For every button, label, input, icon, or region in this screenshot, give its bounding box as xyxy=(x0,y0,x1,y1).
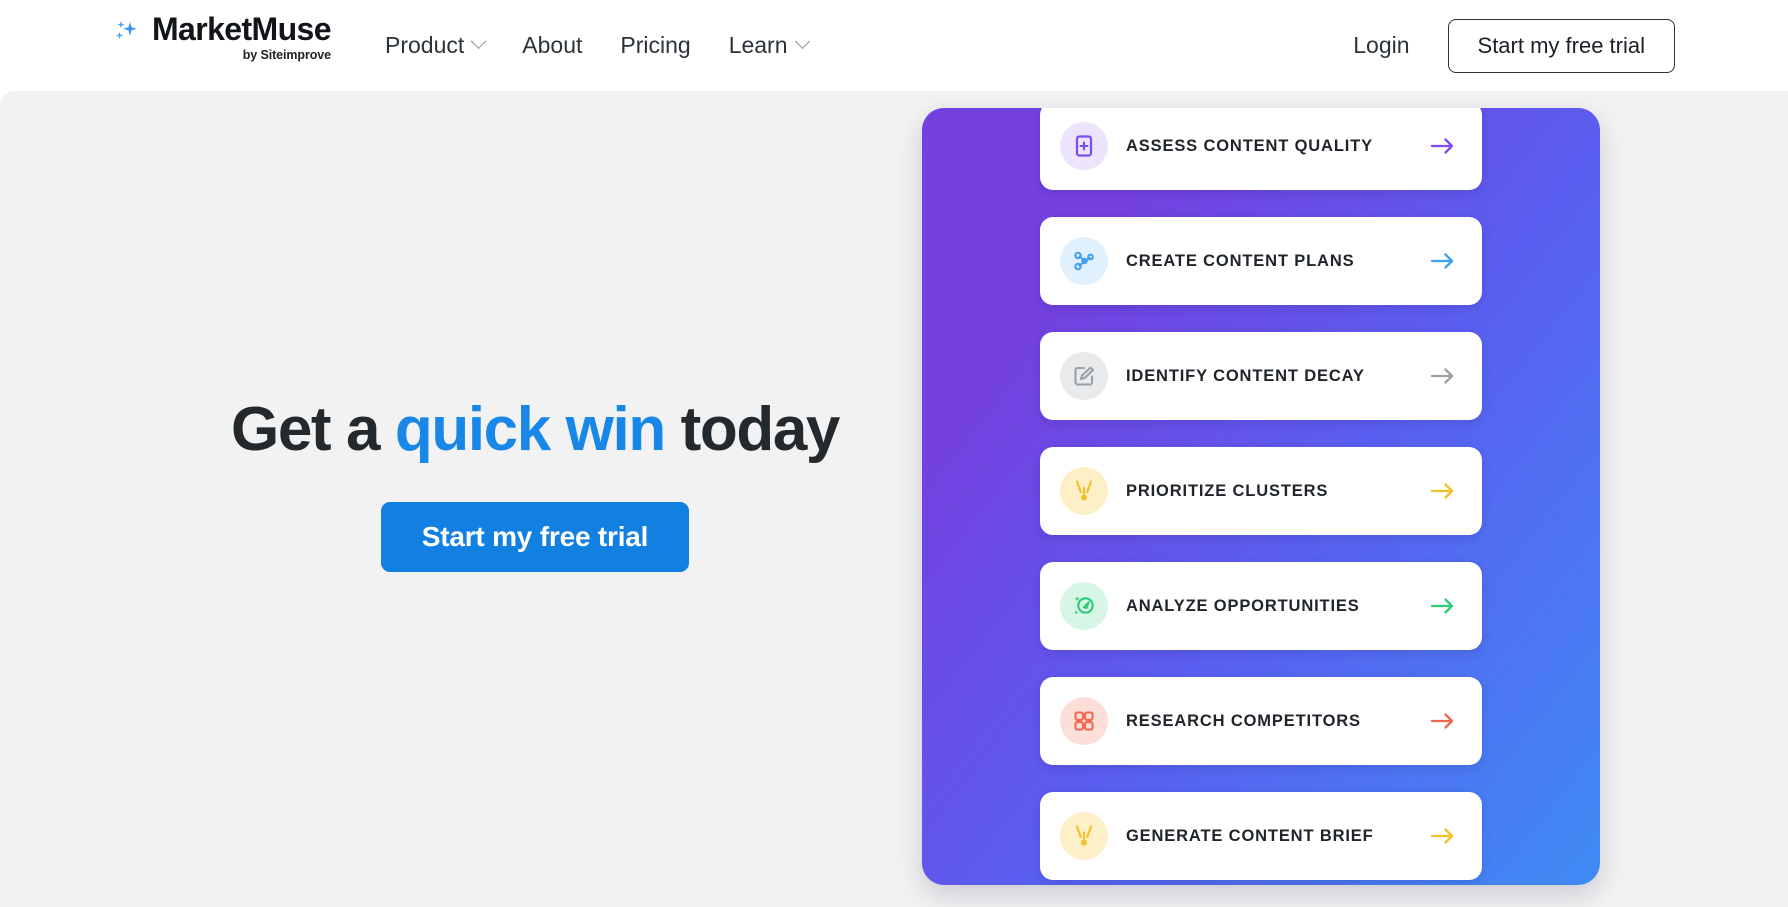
hero-start-free-trial-button[interactable]: Start my free trial xyxy=(381,502,690,572)
hero-title-part1: Get a xyxy=(231,395,395,464)
brand-name: MarketMuse xyxy=(152,13,331,47)
page-title: Get a quick win today xyxy=(231,396,839,464)
header-start-free-trial-button[interactable]: Start my free trial xyxy=(1448,19,1675,73)
arrow-right-icon[interactable] xyxy=(1430,711,1456,731)
sparkles-icon xyxy=(113,20,143,51)
feature-card-label: ANALYZE OPPORTUNITIES xyxy=(1126,597,1430,616)
compass-sparkle-icon xyxy=(1060,582,1108,630)
arrow-right-icon[interactable] xyxy=(1430,251,1456,271)
arrow-right-icon[interactable] xyxy=(1430,136,1456,156)
features-panel: ASSESS CONTENT QUALITY xyxy=(922,108,1600,885)
hero-title-part2: today xyxy=(665,395,839,464)
feature-card-create-content-plans[interactable]: CREATE CONTENT PLANS xyxy=(1040,217,1482,305)
feature-card-label: CREATE CONTENT PLANS xyxy=(1126,252,1430,271)
arrow-right-icon[interactable] xyxy=(1430,826,1456,846)
medal-icon xyxy=(1060,467,1108,515)
share-nodes-icon xyxy=(1060,237,1108,285)
hero-content: Get a quick win today Start my free tria… xyxy=(0,91,1070,907)
main-navigation: Product About Pricing Learn xyxy=(366,0,827,91)
edit-square-icon xyxy=(1060,352,1108,400)
nav-item-product[interactable]: Product xyxy=(366,22,503,69)
feature-card-analyze-opportunities[interactable]: ANALYZE OPPORTUNITIES xyxy=(1040,562,1482,650)
arrow-right-icon[interactable] xyxy=(1430,366,1456,386)
feature-card-research-competitors[interactable]: RESEARCH COMPETITORS xyxy=(1040,677,1482,765)
feature-card-label: ASSESS CONTENT QUALITY xyxy=(1126,137,1430,156)
arrow-right-icon[interactable] xyxy=(1430,481,1456,501)
feature-card-label: PRIORITIZE CLUSTERS xyxy=(1126,482,1430,501)
nav-item-learn[interactable]: Learn xyxy=(710,22,827,69)
nav-item-label: Product xyxy=(385,32,464,59)
feature-card-stack: ASSESS CONTENT QUALITY xyxy=(1040,108,1482,885)
brand-logo[interactable]: MarketMuse by Siteimprove xyxy=(113,13,331,62)
hero-section: Get a quick win today Start my free tria… xyxy=(0,91,1788,907)
medal-icon xyxy=(1060,812,1108,860)
feature-card-label: IDENTIFY CONTENT DECAY xyxy=(1126,367,1430,386)
feature-card-prioritize-clusters[interactable]: PRIORITIZE CLUSTERS xyxy=(1040,447,1482,535)
nav-item-pricing[interactable]: Pricing xyxy=(601,22,709,69)
login-link[interactable]: Login xyxy=(1353,32,1409,59)
feature-card-generate-content-brief[interactable]: GENERATE CONTENT BRIEF xyxy=(1040,792,1482,880)
arrow-right-icon[interactable] xyxy=(1430,596,1456,616)
feature-card-assess-content-quality[interactable]: ASSESS CONTENT QUALITY xyxy=(1040,108,1482,190)
grid-squares-icon xyxy=(1060,697,1108,745)
nav-item-label: Learn xyxy=(729,32,788,59)
site-header: MarketMuse by Siteimprove Product About … xyxy=(0,0,1788,91)
feature-card-identify-content-decay[interactable]: IDENTIFY CONTENT DECAY xyxy=(1040,332,1482,420)
feature-card-label: GENERATE CONTENT BRIEF xyxy=(1126,827,1430,846)
document-plus-icon xyxy=(1060,122,1108,170)
nav-item-label: Pricing xyxy=(620,32,690,59)
chevron-down-icon xyxy=(794,33,810,49)
nav-item-about[interactable]: About xyxy=(503,22,601,69)
header-actions: Login Start my free trial xyxy=(1353,0,1675,91)
chevron-down-icon xyxy=(471,33,487,49)
brand-tagline: by Siteimprove xyxy=(243,48,331,62)
feature-card-label: RESEARCH COMPETITORS xyxy=(1126,712,1430,731)
nav-item-label: About xyxy=(522,32,582,59)
hero-title-highlight: quick win xyxy=(395,395,665,464)
